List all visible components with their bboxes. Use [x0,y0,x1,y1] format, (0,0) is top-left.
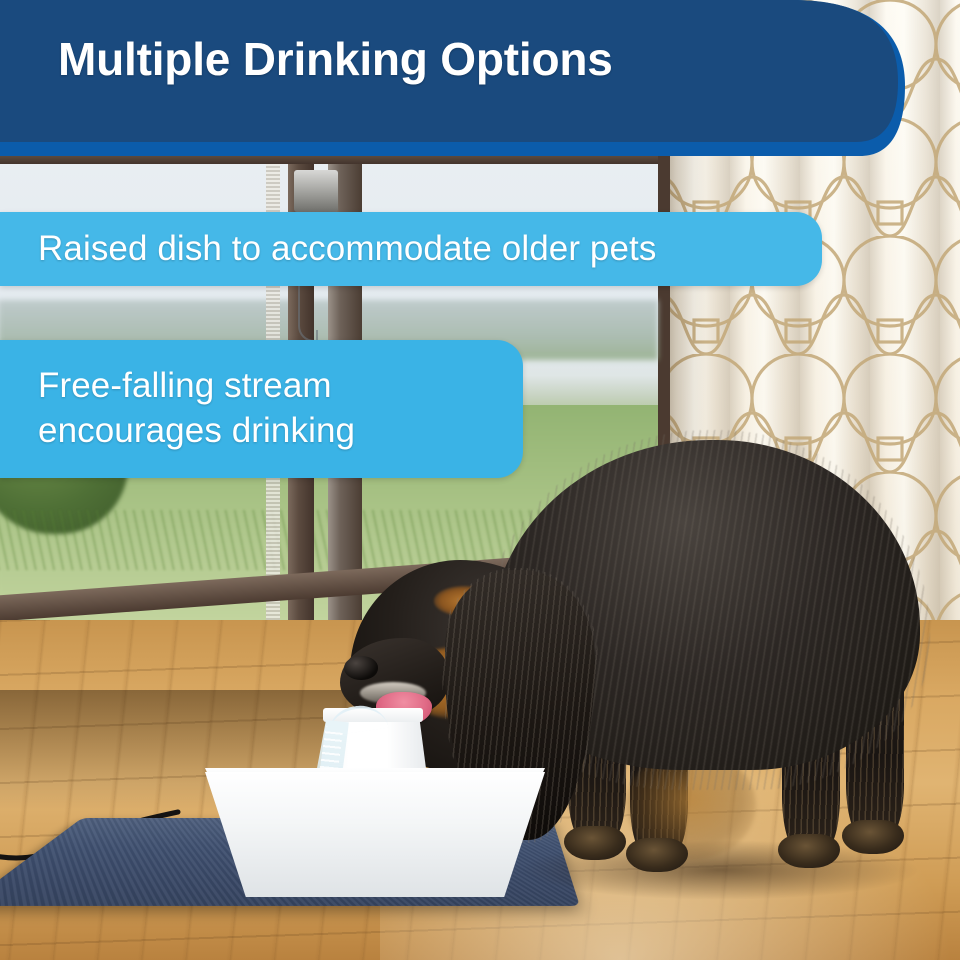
feature-banner-text: Raised dish to accommodate older pets [38,227,656,272]
product-feature-image: Multiple Drinking Options Raised dish to… [0,0,960,960]
feature-banner-free-falling-stream: Free-falling stream encourages drinking [0,340,523,478]
dog-paw [564,826,626,860]
fountain-basin [205,772,545,897]
dog-paw [842,820,904,854]
feature-banner-line-2: encourages drinking [38,411,355,450]
feature-banner-line-1: Free-falling stream [38,366,332,405]
pet-water-fountain [205,712,545,897]
feature-banner-raised-dish: Raised dish to accommodate older pets [0,212,822,286]
dog-nose [344,656,378,680]
header: Multiple Drinking Options [0,0,960,170]
feature-banner-text: Free-falling stream encourages drinking [38,364,355,454]
page-title: Multiple Drinking Options [58,34,613,85]
window-latch [294,170,338,212]
dog-paw [778,834,840,868]
dog-paw [626,838,688,872]
